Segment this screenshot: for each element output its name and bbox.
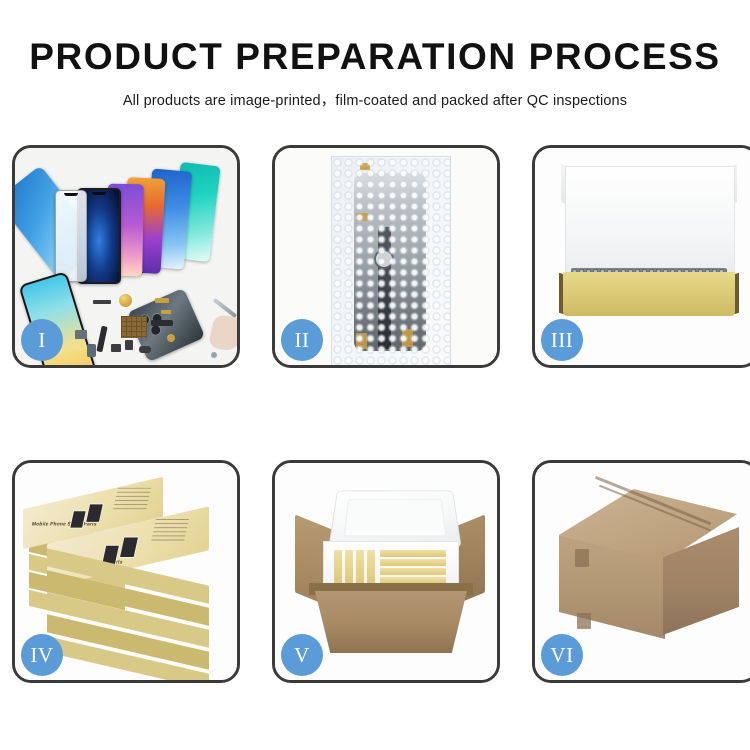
step-badge-2: II	[281, 319, 323, 361]
yellow-box-flat-2	[380, 559, 446, 566]
page-title: PRODUCT PREPARATION PROCESS	[0, 38, 750, 75]
step-panel-3: III	[532, 145, 750, 368]
box-screen-img-4	[119, 536, 139, 558]
page-subtitle: All products are image-printed，film-coat…	[0, 89, 750, 110]
bubble-wrap-bag	[331, 156, 451, 365]
yellow-box-flat-3	[380, 568, 446, 575]
box-yellow-base	[563, 272, 735, 316]
component-coin	[119, 294, 132, 307]
component-strip	[93, 300, 111, 304]
component-small-4	[87, 344, 96, 357]
step-badge-4: IV	[21, 634, 63, 676]
component-gold-contact-2	[161, 310, 171, 314]
styrofoam-cooler-lid	[328, 491, 461, 548]
step-panel-2: II	[272, 145, 500, 368]
yellow-box-flat-1	[380, 550, 446, 557]
step-badge-6: VI	[541, 634, 583, 676]
step-badge-5: V	[281, 634, 323, 676]
component-small-6	[167, 334, 175, 342]
box-screen-img-2	[85, 503, 104, 522]
step-panel-6: VI	[532, 460, 750, 683]
component-chip-array	[121, 316, 147, 338]
header: PRODUCT PREPARATION PROCESS All products…	[0, 0, 750, 110]
carton-tape-upper	[575, 549, 589, 567]
yellow-box-2	[345, 550, 353, 584]
process-steps-grid: I II	[12, 145, 740, 683]
product-preparation-infographic: PRODUCT PREPARATION PROCESS All products…	[0, 0, 750, 750]
step-2-illustration: II	[275, 148, 497, 365]
component-small-1	[111, 344, 121, 352]
component-ribbon	[151, 320, 173, 326]
step-5-illustration: V	[275, 463, 497, 680]
box-white-lid	[565, 166, 735, 284]
component-small-2	[125, 340, 133, 350]
yellow-box-4	[367, 550, 375, 584]
step-6-illustration: VI	[535, 463, 750, 680]
carton-front-panel	[315, 591, 467, 653]
step-badge-3: III	[541, 319, 583, 361]
step-1-illustration: I	[15, 148, 237, 365]
yellow-box-1	[334, 550, 342, 584]
component-small-5	[75, 330, 87, 339]
component-screw	[211, 352, 217, 358]
step-panel-4: Mobile Phone Spare Parts Mobile Phone Sp…	[12, 460, 240, 683]
box-text-lines-upper	[113, 488, 151, 511]
component-gold-contact	[155, 298, 169, 303]
step-3-illustration: III	[535, 148, 750, 365]
component-small-3	[139, 346, 151, 353]
carton-tape-lower	[577, 613, 591, 629]
step-panel-5: V	[272, 460, 500, 683]
step-panel-1: I	[12, 145, 240, 368]
step-badge-1: I	[21, 319, 63, 361]
bubble-texture	[332, 157, 450, 365]
tempered-glass-screen	[55, 190, 87, 282]
step-4-illustration: Mobile Phone Spare Parts Mobile Phone Sp…	[15, 463, 237, 680]
box-text-lines-main	[151, 519, 189, 542]
yellow-box-3	[356, 550, 364, 584]
